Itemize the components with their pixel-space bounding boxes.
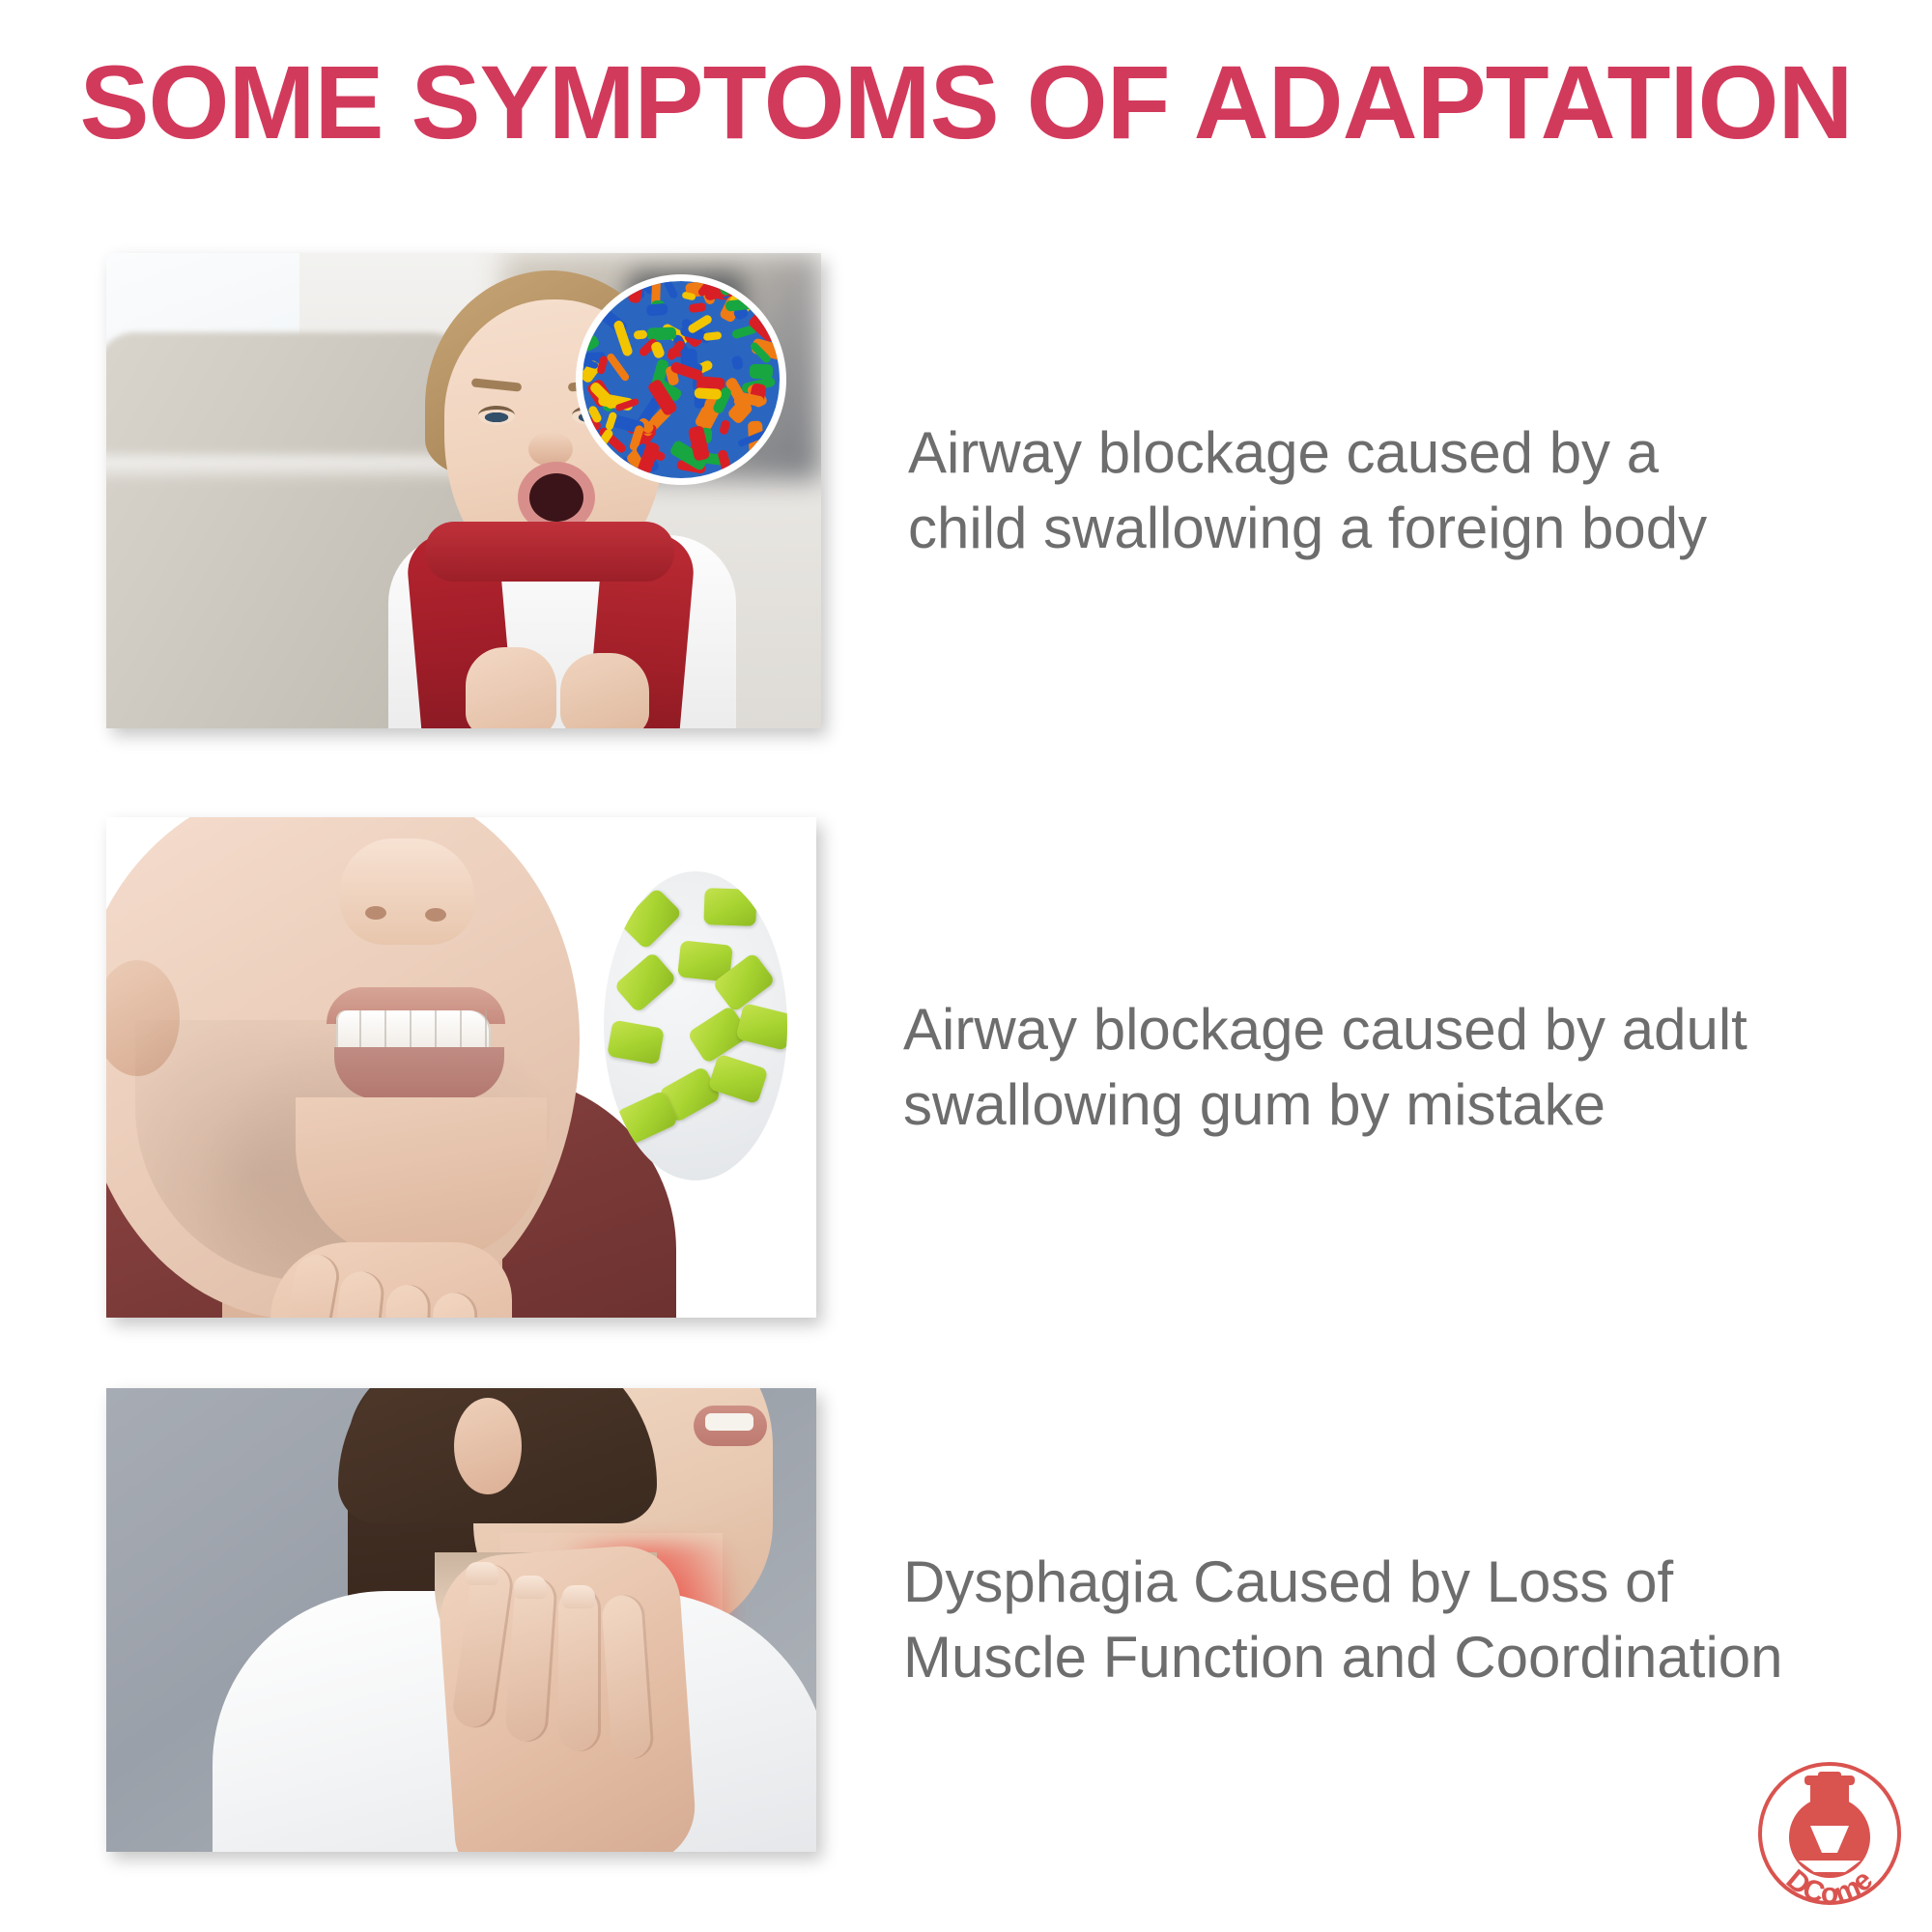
red-scarf-neck xyxy=(425,522,674,582)
toy-piece xyxy=(612,319,634,356)
man-nostril-right xyxy=(425,908,446,922)
man-nostril-left xyxy=(365,906,386,920)
symptom-row-adult-gum: Airway blockage caused by adult swallowi… xyxy=(0,816,1932,1319)
woman-fingernail-1 xyxy=(466,1562,498,1585)
child-hand-right xyxy=(560,653,649,728)
caption-line-1: Airway blockage caused by a xyxy=(908,415,1855,491)
page-title: SOME SYMPTOMS OF ADAPTATION xyxy=(0,50,1932,155)
toy-piece xyxy=(695,387,722,400)
caption-line-2: child swallowing a foreign body xyxy=(908,491,1855,566)
caption-line-2: Muscle Function and Coordination xyxy=(903,1620,1855,1695)
gum-piece xyxy=(613,952,677,1013)
gum-piece xyxy=(735,1003,787,1051)
woman-fingernail-3 xyxy=(562,1585,595,1608)
symptom-row-child: Airway blockage caused by a child swallo… xyxy=(0,249,1932,732)
man-touching-throat-photo xyxy=(106,817,816,1318)
toy-piece xyxy=(649,341,665,360)
child-eye-left xyxy=(478,406,515,425)
caption-line-1: Airway blockage caused by adult xyxy=(903,992,1855,1067)
toy-piece xyxy=(703,331,723,341)
woman-fingernail-2 xyxy=(514,1576,547,1599)
toy-piece xyxy=(581,334,601,353)
caption-adult-gum: Airway blockage caused by adult swallowi… xyxy=(903,992,1932,1143)
dcome-logo[interactable]: DCome xyxy=(1748,1752,1911,1915)
caption-dysphagia: Dysphagia Caused by Loss of Muscle Funct… xyxy=(903,1545,1932,1695)
man-lower-lip xyxy=(334,1047,504,1099)
toy-piece xyxy=(634,329,648,339)
toy-piece xyxy=(646,303,668,317)
toy-piece xyxy=(730,355,744,370)
man-nose xyxy=(340,838,475,945)
toy-piece xyxy=(750,364,773,379)
child-nose xyxy=(528,432,573,467)
child-coughing-photo xyxy=(106,253,821,728)
gum-piece xyxy=(607,1020,665,1065)
toy-piece xyxy=(688,302,706,313)
woman-finger-3 xyxy=(558,1587,601,1751)
child-hand-left xyxy=(466,647,556,728)
chewing-gum-pieces-inset xyxy=(604,871,787,1180)
woman-ear xyxy=(454,1398,522,1494)
plastic-toy-pieces-inset xyxy=(576,274,786,485)
symptom-row-dysphagia: Dysphagia Caused by Loss of Muscle Funct… xyxy=(0,1386,1932,1853)
caption-line-2: swallowing gum by mistake xyxy=(903,1067,1855,1143)
woman-sore-throat-photo xyxy=(106,1388,816,1852)
caption-child-foreign-body: Airway blockage caused by a child swallo… xyxy=(908,415,1932,566)
infographic-poster: SOME SYMPTOMS OF ADAPTATION xyxy=(0,0,1932,1932)
gum-piece xyxy=(703,888,756,926)
toy-piece xyxy=(717,449,732,474)
woman-teeth xyxy=(705,1413,753,1431)
caption-line-1: Dysphagia Caused by Loss of xyxy=(903,1545,1855,1620)
child-open-mouth xyxy=(529,473,583,522)
toy-piece xyxy=(719,419,730,435)
